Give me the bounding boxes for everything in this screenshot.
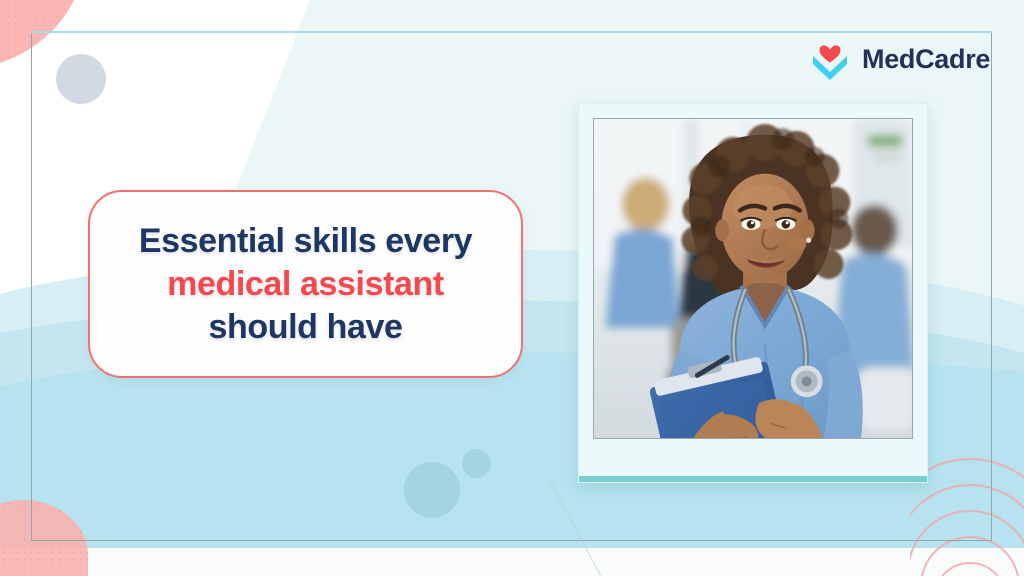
headline-card: Essential skills every medical assistant… bbox=[88, 190, 523, 378]
heart-chevron-icon bbox=[808, 38, 852, 80]
background-bottom-strip bbox=[0, 548, 1024, 576]
blue-circle-small-icon bbox=[462, 449, 491, 478]
hero-photo bbox=[593, 118, 913, 439]
gray-dotted-circle-icon bbox=[56, 54, 106, 104]
photo-frame bbox=[578, 103, 928, 483]
slide-frame-top-accent bbox=[31, 31, 992, 33]
brand-logo: MedCadre bbox=[808, 38, 990, 80]
headline-line-3: should have bbox=[209, 307, 403, 347]
blue-circle-large-icon bbox=[404, 462, 460, 518]
headline-line-2: medical assistant bbox=[167, 264, 444, 304]
headline-line-1: Essential skills every bbox=[139, 221, 472, 261]
slide-canvas: MedCadre Essential skills every medical … bbox=[0, 0, 1024, 576]
brand-name: MedCadre bbox=[862, 44, 990, 75]
